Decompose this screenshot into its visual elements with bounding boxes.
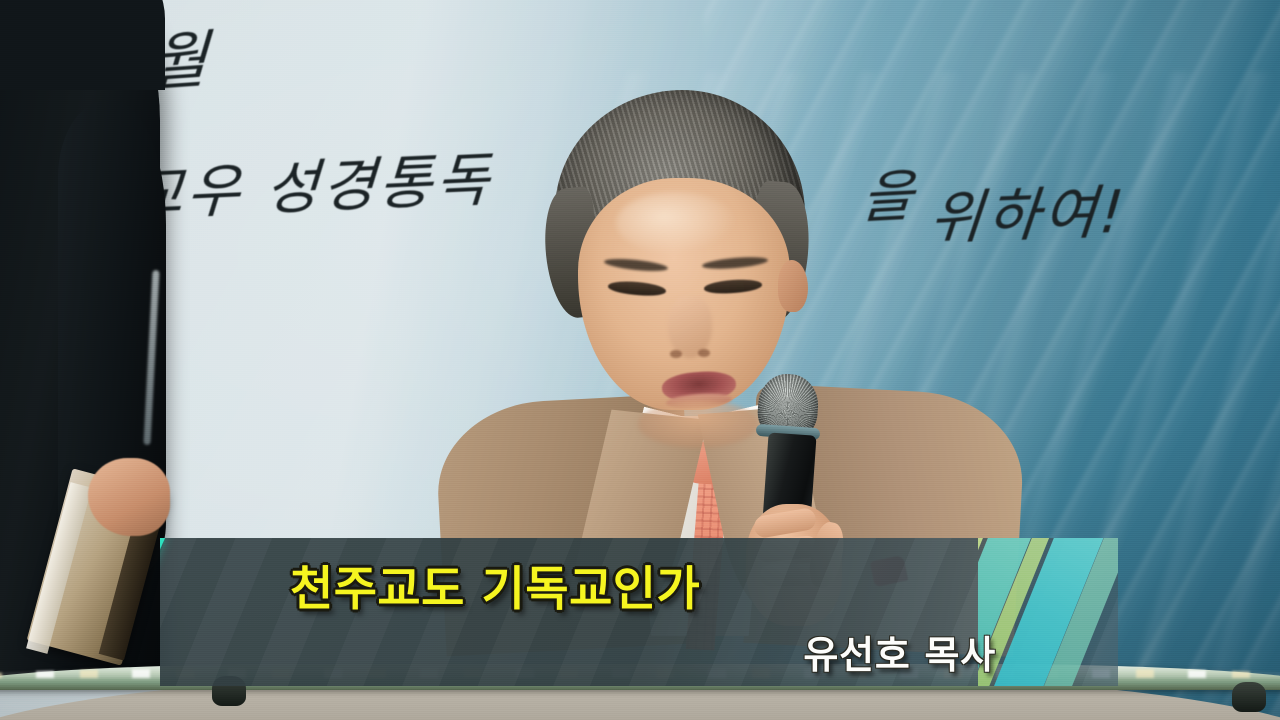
preacher-nostril-left [670, 350, 682, 358]
preacher [420, 60, 1040, 580]
video-frame: ~8월 교우 성경통독 친 을 위하여! [0, 0, 1280, 720]
preacher-nostril-right [698, 349, 710, 357]
lower-third-stripe-group [978, 538, 1118, 686]
attendant-in-dark-suit [0, 0, 185, 710]
attendant-hand [88, 458, 170, 536]
lower-third-banner: 천주교도 기독교인가 유선호 목사 [160, 538, 1118, 686]
preacher-chin [638, 400, 758, 448]
drum-lug-right [1232, 682, 1266, 712]
attendant-shoulder [0, 0, 165, 90]
speaker-name: 유선호 목사 [803, 624, 996, 679]
sermon-title: 천주교도 기독교인가 [290, 550, 700, 619]
preacher-forehead-highlight [616, 192, 736, 254]
